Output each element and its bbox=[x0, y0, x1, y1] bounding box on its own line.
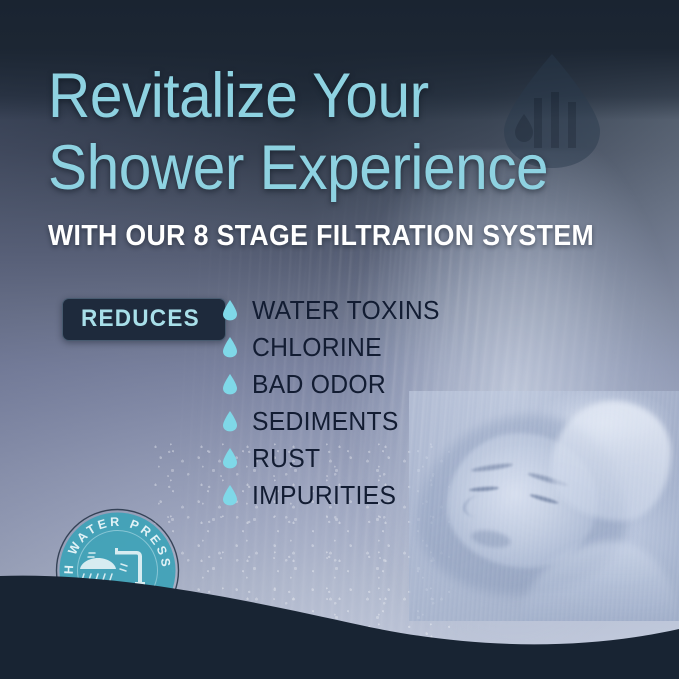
list-item-label: RUST bbox=[252, 444, 320, 472]
subheadline: WITH OUR 8 STAGE FILTRATION SYSTEM bbox=[48, 219, 594, 253]
reduces-badge-label: REDUCES bbox=[81, 306, 200, 332]
list-item-label: WATER TOXINS bbox=[252, 296, 440, 324]
reduces-badge: REDUCES bbox=[62, 298, 226, 341]
list-item: SEDIMENTS bbox=[222, 403, 522, 439]
water-drop-icon bbox=[222, 484, 238, 506]
list-item: IMPURITIES bbox=[222, 477, 522, 513]
headline-line-1: Revitalize Your bbox=[48, 60, 606, 132]
reduces-list: WATER TOXINS CHLORINE BAD ODOR bbox=[222, 292, 522, 514]
headline: Revitalize Your Shower Experience bbox=[48, 60, 648, 204]
list-item: BAD ODOR bbox=[222, 366, 522, 402]
list-item: CHLORINE bbox=[222, 329, 522, 365]
headline-line-2: Shower Experience bbox=[48, 132, 606, 204]
list-item: WATER TOXINS bbox=[222, 292, 522, 328]
list-item-label: SEDIMENTS bbox=[252, 407, 399, 435]
water-drop-icon bbox=[222, 373, 238, 395]
water-drop-icon bbox=[222, 410, 238, 432]
water-drop-icon bbox=[222, 299, 238, 321]
bottom-wave-band bbox=[0, 559, 679, 679]
list-item-label: CHLORINE bbox=[252, 333, 382, 361]
list-item-label: BAD ODOR bbox=[252, 370, 386, 398]
water-drop-icon bbox=[222, 336, 238, 358]
water-drop-icon bbox=[222, 447, 238, 469]
poster-canvas: Revitalize Your Shower Experience WITH O… bbox=[0, 0, 679, 679]
list-item: RUST bbox=[222, 440, 522, 476]
list-item-label: IMPURITIES bbox=[252, 481, 396, 509]
